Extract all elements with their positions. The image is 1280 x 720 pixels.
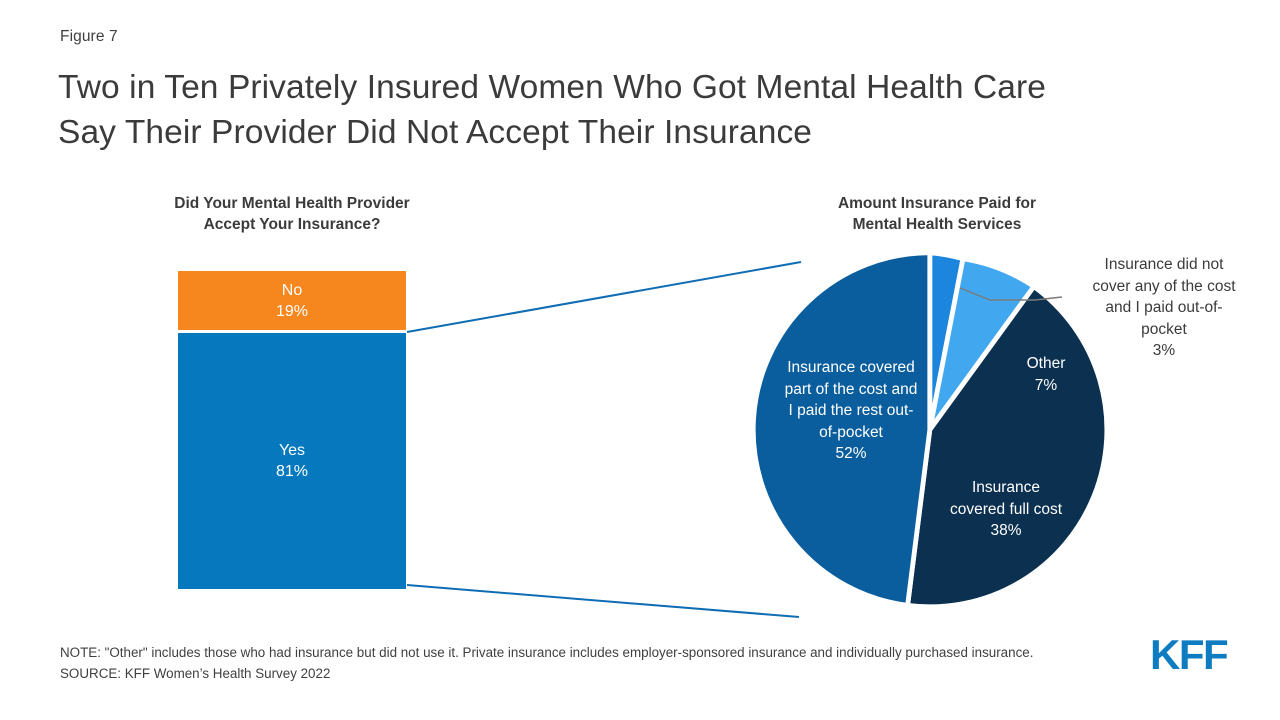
pie-label-part-cost: Insurance covered part of the cost and I… <box>763 357 939 465</box>
pie-label-other-value: 7% <box>1035 377 1057 394</box>
footer: NOTE: "Other" includes those who had ins… <box>60 643 1150 684</box>
pie-label-full-cost-value: 38% <box>990 522 1021 539</box>
pie-label-no-coverage-value: 3% <box>1153 342 1175 359</box>
note-text: NOTE: "Other" includes those who had ins… <box>60 643 1145 663</box>
pie-label-other-line-1: Other <box>1027 355 1066 372</box>
pie-label-full-cost: Insurance covered full cost 38% <box>915 477 1097 542</box>
pie-label-part-cost-line-3: I paid the rest out- <box>789 402 914 419</box>
pie-label-no-coverage: Insurance did not cover any of the cost … <box>1078 254 1250 362</box>
pie-label-no-coverage-line-1: Insurance did not <box>1105 256 1224 273</box>
pie-label-no-coverage-line-4: pocket <box>1141 321 1187 338</box>
source-text: SOURCE: KFF Women’s Health Survey 2022 <box>60 664 1150 684</box>
leader-line-no-coverage <box>960 288 1062 300</box>
pie-label-full-cost-line-1: Insurance <box>972 479 1040 496</box>
pie-label-other: Other 7% <box>1004 353 1088 396</box>
pie-label-part-cost-line-4: of-pocket <box>819 424 883 441</box>
pie-label-part-cost-line-2: part of the cost and <box>785 381 918 398</box>
kff-logo: KFF <box>1150 633 1227 677</box>
figure-canvas: Figure 7 Two in Ten Privately Insured Wo… <box>0 0 1280 720</box>
pie-label-no-coverage-line-3: and I paid out-of- <box>1105 299 1222 316</box>
pie-label-part-cost-line-1: Insurance covered <box>787 359 915 376</box>
pie-label-no-coverage-line-2: cover any of the cost <box>1092 278 1235 295</box>
pie-label-part-cost-value: 52% <box>835 445 866 462</box>
pie-label-full-cost-line-2: covered full cost <box>950 501 1062 518</box>
